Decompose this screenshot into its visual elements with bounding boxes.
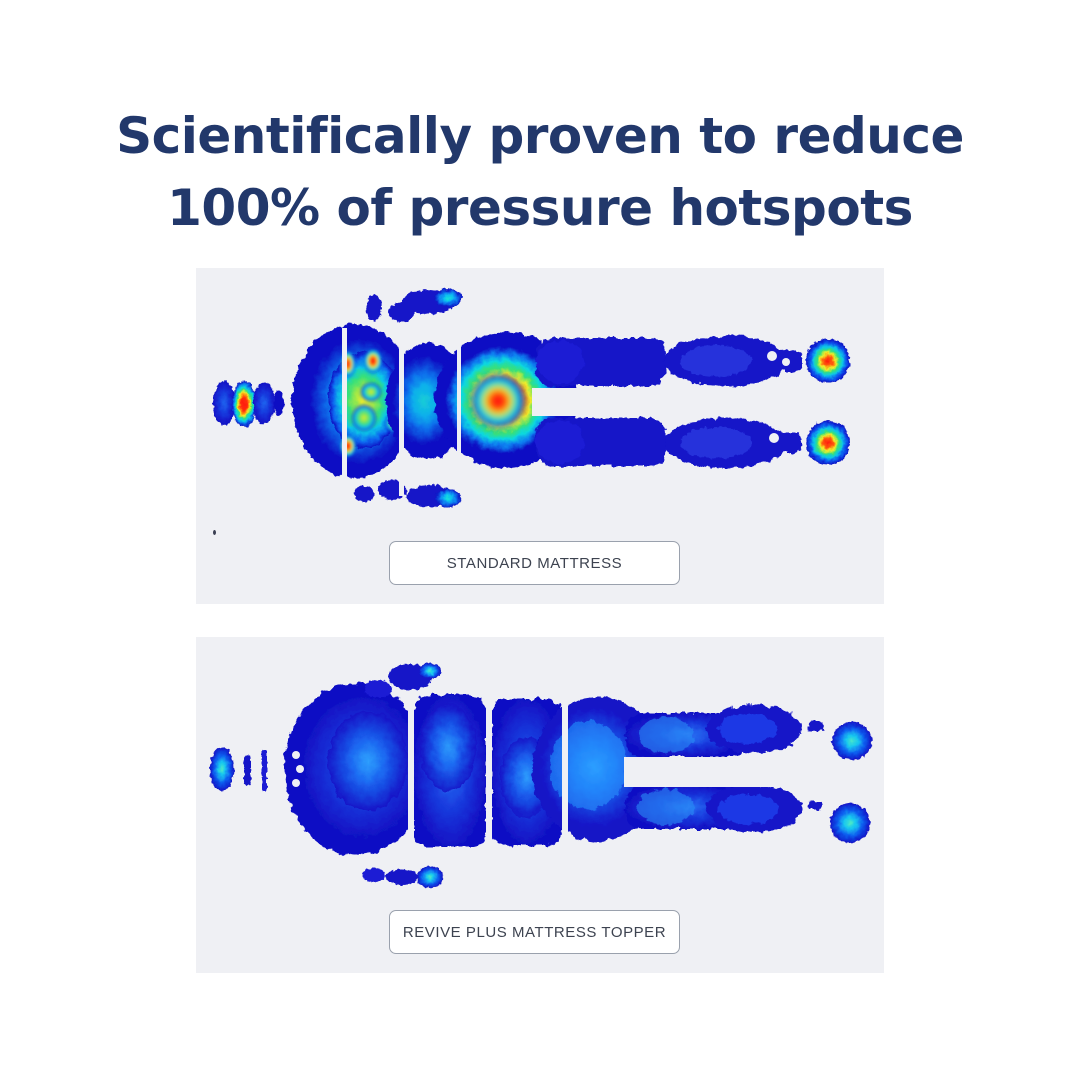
heat-region-heels [806,339,850,465]
label-revive-plus-topper[interactable]: REVIVE PLUS MATTRESS TOPPER [389,910,680,954]
sensor-dropout [292,751,300,759]
pressure-map-revive [196,637,884,905]
sensor-dropout [801,772,811,782]
sensor-dropout [594,397,602,405]
heat-region-midback [414,695,486,847]
heat-region-heels [830,722,872,843]
sensor-dropout [782,358,790,366]
sensor-dropout [769,433,779,443]
sensor-dropout [606,397,614,405]
label-standard-mattress-text: STANDARD MATTRESS [447,555,622,572]
page-title: Scientifically proven to reduce 100% of … [0,100,1080,244]
mat-seam-2 [399,326,404,496]
leg-gap [532,388,712,416]
pressure-map-standard [196,268,884,536]
sensor-dropout [767,351,777,361]
pressure-heatmap-revive-svg [196,637,884,905]
panel-standard-mattress: STANDARD MATTRESS [196,268,884,604]
leg-gap [624,757,824,787]
pressure-map-comparison-page: Scientifically proven to reduce 100% of … [0,0,1080,1080]
mat-seam-1 [342,328,347,496]
pressure-heatmap-standard-svg [196,268,884,536]
mat-seam-2 [486,693,492,851]
mat-seam-1 [408,693,414,851]
page-title-line-2: 100% of pressure hotspots [0,172,1080,244]
heat-region-shoulders [284,683,428,855]
mat-seam-3 [562,695,568,851]
panel-revive-plus-topper: REVIVE PLUS MATTRESS TOPPER [196,637,884,973]
sensor-dropout [292,779,300,787]
label-standard-mattress[interactable]: STANDARD MATTRESS [389,541,680,585]
heat-region-hip-peak [472,375,524,427]
stray-sensor-speck [213,530,216,535]
page-title-line-1: Scientifically proven to reduce [0,100,1080,172]
heat-region-head [210,747,267,791]
heat-region-head [213,381,284,427]
sensor-dropout [579,396,589,406]
sensor-dropout [296,765,304,773]
mat-seam-3 [457,330,461,490]
label-revive-plus-topper-text: REVIVE PLUS MATTRESS TOPPER [403,924,666,941]
